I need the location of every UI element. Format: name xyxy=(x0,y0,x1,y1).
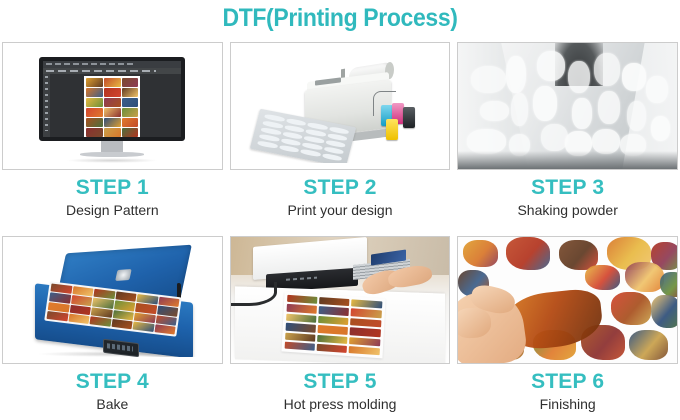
transfer-artwork xyxy=(651,295,677,328)
step-2-image xyxy=(230,42,451,170)
artwork-thumbnail xyxy=(104,108,121,117)
monitor-stand-base xyxy=(80,152,144,157)
monitor-screen xyxy=(39,57,185,141)
transfer-on-tray xyxy=(111,319,133,330)
ink-bottle-set xyxy=(381,103,425,141)
step-5-label: STEP 5 xyxy=(230,370,451,394)
powder-shape xyxy=(467,129,506,154)
step-2-description: Print your design xyxy=(230,202,451,218)
transfer-on-tray xyxy=(132,321,154,332)
transfer-artwork xyxy=(629,330,668,360)
step-5-description: Hot press molding xyxy=(230,396,451,412)
ink-bottle-yellow xyxy=(386,119,398,140)
step-6-description: Finishing xyxy=(457,396,678,412)
transfer-artwork xyxy=(611,292,650,325)
step-card-6[interactable]: STEP 6 Finishing xyxy=(457,236,678,420)
powder-shape xyxy=(511,93,528,126)
powder-shape xyxy=(627,101,647,131)
step-5-image xyxy=(230,236,451,364)
artwork-thumbnail xyxy=(104,128,121,137)
powder-shape xyxy=(506,56,526,94)
steps-grid: STEP 1 Design Pattern xyxy=(2,42,678,420)
transfer-motif xyxy=(352,299,383,308)
step-1-description: Design Pattern xyxy=(2,202,223,218)
transfer-motif xyxy=(287,295,318,304)
step-6-caption: STEP 6 Finishing xyxy=(457,370,678,412)
artwork-thumbnail xyxy=(104,98,121,107)
page-title: DTF(Printing Process) xyxy=(27,4,653,33)
artwork-thumbnail xyxy=(122,88,139,97)
powder-shape xyxy=(480,101,508,121)
transfer-motif xyxy=(350,337,381,346)
artwork-thumbnail xyxy=(86,78,103,87)
transfer-artwork xyxy=(585,265,620,290)
transfer-motif xyxy=(319,306,350,315)
step-6-label: STEP 6 xyxy=(457,370,678,394)
powder-shape xyxy=(646,76,668,104)
powder-shape xyxy=(594,53,620,86)
transfer-on-tray xyxy=(154,324,176,335)
software-menubar xyxy=(43,61,181,68)
transfer-motif xyxy=(318,325,349,334)
powder-shape xyxy=(541,124,567,152)
transfer-on-tray xyxy=(46,311,68,322)
step-card-3[interactable]: STEP 3 Shaking powder xyxy=(457,42,678,232)
dtf-printing-process-infographic: DTF(Printing Process) xyxy=(0,0,680,420)
powder-shape xyxy=(568,61,590,94)
transfer-motif xyxy=(351,309,382,318)
step-card-4[interactable]: STEP 4 Bake xyxy=(2,236,223,420)
step-3-caption: STEP 3 Shaking powder xyxy=(457,176,678,218)
monitor-shadow xyxy=(66,158,158,163)
curing-oven-illustration xyxy=(27,249,203,357)
transfer-artwork xyxy=(660,272,678,297)
lower-shadow xyxy=(458,151,677,169)
transfer-motif xyxy=(286,323,317,332)
artwork-thumbnail xyxy=(104,88,121,97)
artwork-thumbnail xyxy=(86,88,103,97)
artwork-thumbnail xyxy=(104,118,121,127)
step-6-image xyxy=(457,236,678,364)
transfer-motif xyxy=(317,334,348,343)
transfer-motif xyxy=(318,316,349,326)
transfer-artwork xyxy=(506,237,550,270)
oven-shadow xyxy=(37,351,189,357)
transfer-motif xyxy=(351,318,382,328)
artwork-thumbnail xyxy=(86,98,103,107)
step-4-image xyxy=(2,236,223,364)
transfer-on-tray xyxy=(89,316,111,327)
powder-shape xyxy=(572,98,592,128)
transfer-on-tray xyxy=(68,313,90,324)
step-card-2[interactable]: STEP 2 Print your design xyxy=(230,42,451,232)
powder-film-closeup xyxy=(458,43,677,169)
transfer-motif xyxy=(319,297,350,306)
step-4-description: Bake xyxy=(2,396,223,412)
step-2-label: STEP 2 xyxy=(230,176,451,200)
artwork-thumbnail xyxy=(122,128,139,137)
step-1-caption: STEP 1 Design Pattern xyxy=(2,176,223,218)
step-1-image xyxy=(2,42,223,170)
transfer-sheet-on-press xyxy=(282,292,386,359)
transfer-motif xyxy=(286,313,317,323)
transfer-motif xyxy=(349,346,380,356)
software-toolbar xyxy=(43,68,181,74)
artwork-thumbnail xyxy=(86,128,103,137)
powder-shape xyxy=(592,129,620,154)
artwork-thumbnail xyxy=(122,108,139,117)
artwork-thumbnail xyxy=(122,78,139,87)
step-2-caption: STEP 2 Print your design xyxy=(230,176,451,218)
powder-shape xyxy=(651,116,671,141)
printed-motif xyxy=(257,140,278,149)
monitor-stand-neck xyxy=(101,141,123,152)
step-3-description: Shaking powder xyxy=(457,202,678,218)
artwork-thumbnail xyxy=(122,118,139,127)
transfer-motif xyxy=(285,342,316,352)
monitor-illustration xyxy=(39,57,185,163)
step-4-label: STEP 4 xyxy=(2,370,223,394)
ink-bottle-black xyxy=(403,107,415,128)
design-canvas xyxy=(84,76,140,139)
powder-coated-shapes xyxy=(458,43,677,169)
powder-shape xyxy=(598,91,620,124)
step-5-caption: STEP 5 Hot press molding xyxy=(230,370,451,412)
step-3-image xyxy=(457,42,678,170)
transfer-motif xyxy=(285,332,316,341)
artwork-thumbnail xyxy=(86,118,103,127)
step-3-label: STEP 3 xyxy=(457,176,678,200)
transfer-motif xyxy=(350,327,381,336)
step-1-label: STEP 1 xyxy=(2,176,223,200)
transfer-motif xyxy=(317,344,348,354)
artwork-thumbnail xyxy=(86,108,103,117)
software-tool-palette xyxy=(43,74,50,137)
artwork-thumbnail xyxy=(122,98,139,107)
printed-motif xyxy=(300,149,321,158)
powder-shape xyxy=(533,86,557,121)
printed-motif xyxy=(278,144,299,153)
step-card-1[interactable]: STEP 1 Design Pattern xyxy=(2,42,223,232)
heat-press-scene xyxy=(231,237,450,363)
transfer-artwork xyxy=(463,240,498,268)
finishing-closeup xyxy=(458,237,677,363)
dtf-printer-illustration xyxy=(253,59,433,163)
powder-shape xyxy=(537,51,565,81)
powder-shape xyxy=(471,66,506,94)
transfer-motif xyxy=(287,304,318,313)
transfer-artwork xyxy=(625,262,664,292)
oven-lid-badge xyxy=(115,269,132,281)
powder-shape xyxy=(622,63,646,91)
step-card-5[interactable]: STEP 5 Hot press molding xyxy=(230,236,451,420)
step-4-caption: STEP 4 Bake xyxy=(2,370,223,412)
printed-motif xyxy=(321,153,342,162)
artwork-thumbnail xyxy=(104,78,121,87)
